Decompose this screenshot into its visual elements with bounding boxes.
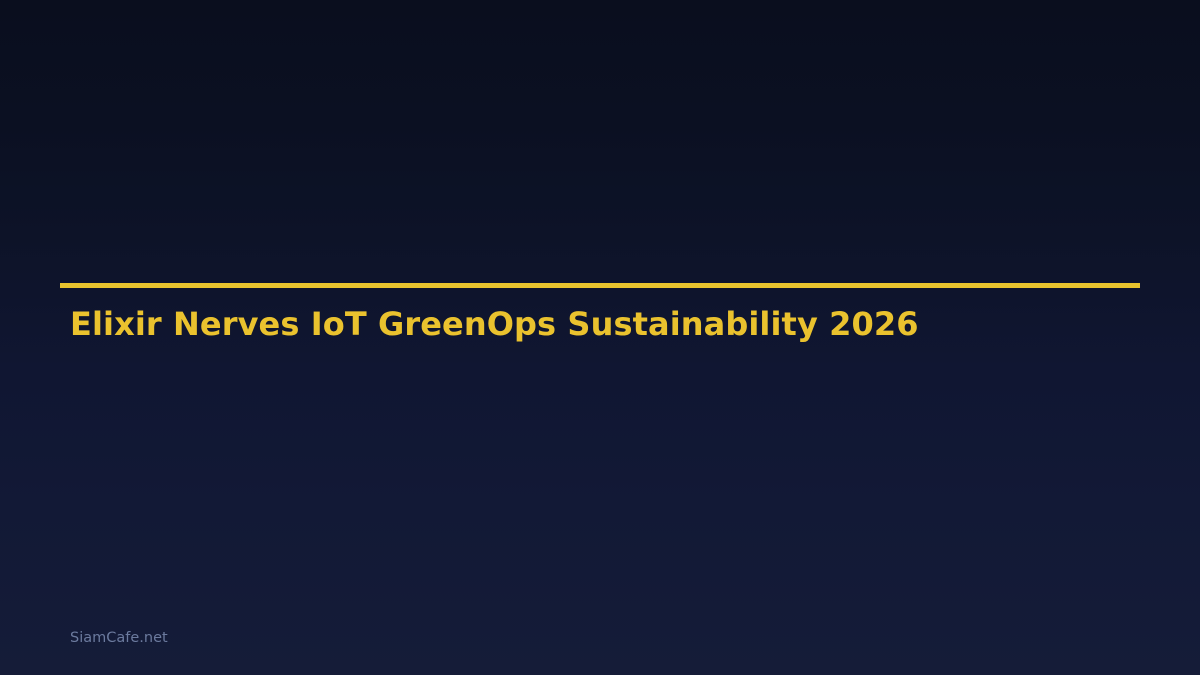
presentation-slide: Elixir Nerves IoT GreenOps Sustainabilit… xyxy=(0,0,1200,675)
title-block: Elixir Nerves IoT GreenOps Sustainabilit… xyxy=(60,283,1140,288)
gold-accent-rule xyxy=(60,283,1140,288)
watermark-label: SiamCafe.net xyxy=(70,630,168,647)
page-title: Elixir Nerves IoT GreenOps Sustainabilit… xyxy=(70,307,919,342)
